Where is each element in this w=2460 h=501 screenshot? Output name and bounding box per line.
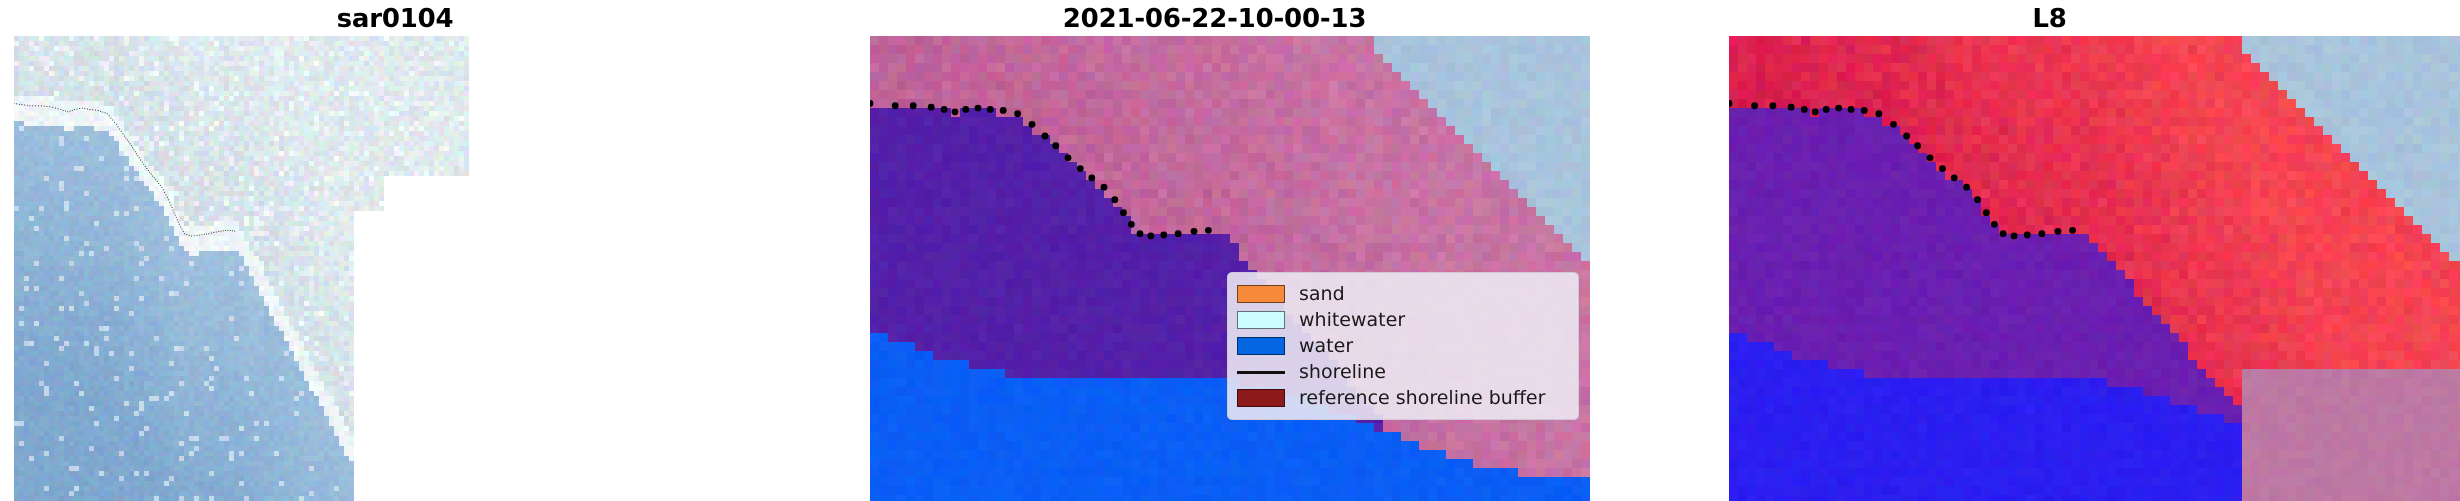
panel-title-l8: L8 (1639, 4, 2460, 34)
panel-title-date: 2021-06-22-10-00-13 (790, 4, 1639, 34)
legend-label-whitewater: whitewater (1299, 309, 1405, 331)
panel-sar0104: sar0104 (0, 0, 790, 501)
legend-swatch-whitewater (1237, 311, 1285, 329)
image-axes-sar0104[interactable] (14, 36, 469, 501)
image-axes-l8[interactable] (1729, 36, 2460, 501)
legend-swatch-reference-shoreline-buffer (1237, 389, 1285, 407)
classified-image-l8[interactable] (1729, 36, 2460, 501)
panel-title-sar0104: sar0104 (0, 4, 790, 34)
legend-label-shoreline: shoreline (1299, 361, 1386, 383)
image-axes-classified[interactable] (870, 36, 1590, 501)
panel-classified-scene: 2021-06-22-10-00-13 (790, 0, 1639, 501)
panel-l8: L8 (1639, 0, 2460, 501)
legend-swatch-water (1237, 337, 1285, 355)
legend-item-sand[interactable]: sand (1237, 281, 1568, 307)
legend-item-shoreline[interactable]: shoreline (1237, 359, 1568, 385)
legend-label-sand: sand (1299, 283, 1345, 305)
legend-item-whitewater[interactable]: whitewater (1237, 307, 1568, 333)
legend-label-reference-shoreline-buffer: reference shoreline buffer (1299, 387, 1545, 409)
legend-label-water: water (1299, 335, 1353, 357)
legend-swatch-sand (1237, 285, 1285, 303)
legend-item-water[interactable]: water (1237, 333, 1568, 359)
map-legend[interactable]: sand whitewater water shoreline referenc… (1227, 272, 1579, 420)
legend-swatch-shoreline (1237, 363, 1285, 381)
legend-item-reference-shoreline-buffer[interactable]: reference shoreline buffer (1237, 385, 1568, 411)
figure-root: sar0104 2021-06-22-10-00-13 L8 sand whit… (0, 0, 2460, 501)
classified-image-scene[interactable] (870, 36, 1590, 501)
satellite-image-sar0104[interactable] (14, 36, 469, 501)
